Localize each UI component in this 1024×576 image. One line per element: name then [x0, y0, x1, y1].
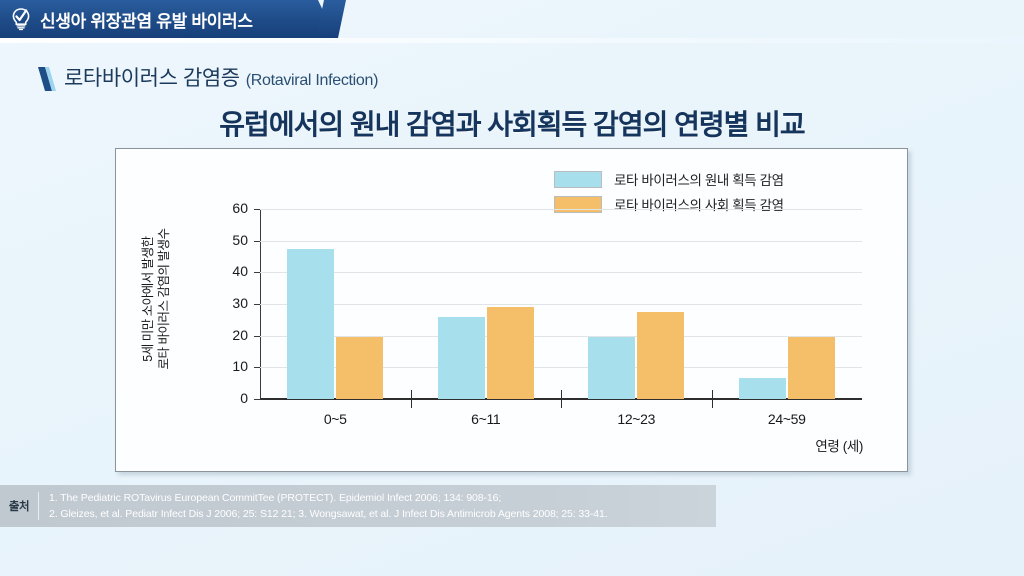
legend-swatch-nosocomial [554, 171, 602, 188]
bar-nosocomial [739, 378, 786, 399]
x-tick-mark [561, 390, 562, 408]
slash-accent-icon [36, 66, 56, 92]
source-text: 1. The Pediatric ROTavirus European Comm… [39, 490, 608, 523]
legend-label-nosocomial: 로타 바이러스의 원내 획득 감염 [614, 169, 784, 189]
y-tick-label: 30 [214, 295, 248, 311]
x-category-label: 6~11 [426, 411, 546, 427]
x-category-label: 0~5 [275, 411, 395, 427]
y-tick-label: 60 [214, 200, 248, 216]
bar-community [637, 312, 684, 399]
subtitle-english: (Rotaviral Infection) [246, 72, 378, 90]
banner-title: 신생아 위장관염 유발 바이러스 [40, 7, 253, 32]
lightbulb-check-icon [10, 7, 32, 31]
legend-item: 로타 바이러스의 원내 획득 감염 [554, 169, 784, 189]
y-tick-mark [254, 399, 261, 400]
chart-legend: 로타 바이러스의 원내 획득 감염 로타 바이러스의 사회 획득 감염 [554, 169, 784, 214]
bar-nosocomial [287, 249, 334, 399]
gridline [260, 304, 862, 305]
bar-community [336, 337, 383, 399]
y-tick-label: 20 [214, 327, 248, 343]
chart-title: 유럽에서의 원내 감염과 사회획득 감염의 연령별 비교 [0, 103, 1024, 143]
y-tick-label: 0 [214, 390, 248, 406]
y-axis-title-line2: 로타 바이러스 감염의 발생수 [157, 229, 173, 370]
plot-area [260, 209, 862, 399]
x-category-label: 12~23 [576, 411, 696, 427]
y-tick-label: 50 [214, 232, 248, 248]
subtitle-korean: 로타바이러스 감염증 [64, 62, 240, 92]
gridline [260, 272, 862, 273]
x-category-label: 24~59 [727, 411, 847, 427]
bar-nosocomial [438, 317, 485, 399]
x-tick-mark [712, 390, 713, 408]
gridline [260, 209, 862, 210]
bar-community [788, 337, 835, 399]
y-axis-title-line1: 5세 미만 소아에서 발생한 [141, 236, 157, 361]
y-tick-label: 10 [214, 358, 248, 374]
header-banner: 신생아 위장관염 유발 바이러스 [0, 0, 336, 38]
gridline [260, 241, 862, 242]
bar-nosocomial [588, 337, 635, 399]
x-axis-title: 연령 (세) [815, 435, 863, 455]
section-subtitle: 로타바이러스 감염증 (Rotaviral Infection) [36, 62, 378, 96]
y-tick-label: 40 [214, 263, 248, 279]
source-line-1: 1. The Pediatric ROTavirus European Comm… [49, 490, 608, 506]
source-footer: 출처 1. The Pediatric ROTavirus European C… [0, 485, 716, 527]
chart-panel: 로타 바이러스의 원내 획득 감염 로타 바이러스의 사회 획득 감염 5세 미… [115, 148, 908, 472]
source-tag: 출처 [0, 498, 38, 514]
x-tick-mark [411, 390, 412, 408]
banner-underline [0, 38, 1024, 43]
bar-community [487, 307, 534, 399]
source-line-2: 2. Gleizes, et al. Pediatr Infect Dis J … [49, 506, 608, 522]
y-axis-title: 5세 미만 소아에서 발생한 로타 바이러스 감염의 발생수 [141, 204, 171, 394]
